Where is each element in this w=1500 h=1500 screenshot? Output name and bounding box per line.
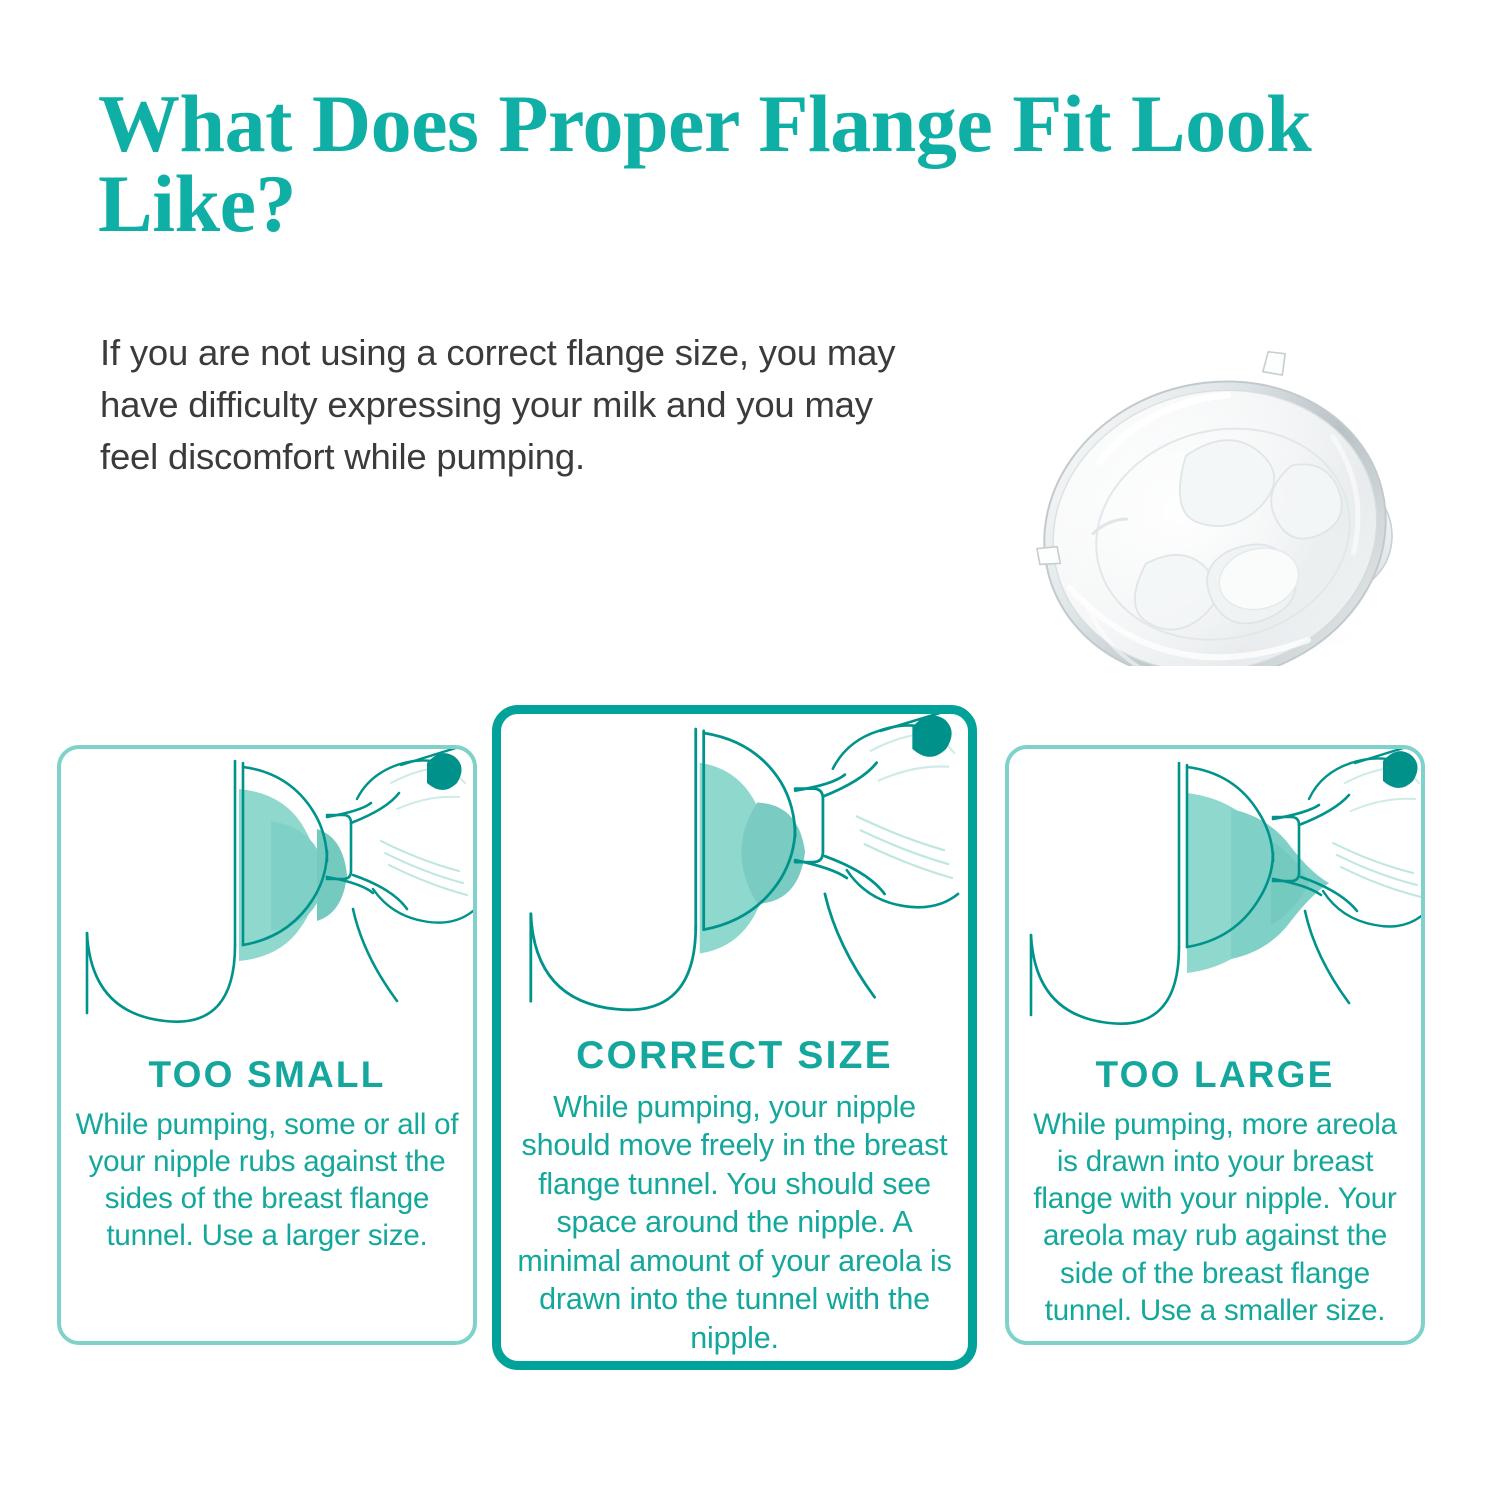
illustration-too-large — [1009, 749, 1421, 1049]
card-text-correct-size: While pumping, your nipple should move f… — [515, 1088, 954, 1357]
page-title: What Does Proper Flange Fit Look Like? — [98, 84, 1388, 243]
card-body-correct-size: CORRECT SIZE While pumping, your nipple … — [501, 1034, 968, 1357]
flange-fit-card-row: TOO SMALL While pumping, some or all of … — [0, 690, 1500, 1390]
product-photo — [1000, 236, 1450, 666]
card-text-too-small: While pumping, some or all of your nippl… — [75, 1106, 459, 1255]
card-text-too-large: While pumping, more areola is drawn into… — [1023, 1106, 1407, 1329]
card-heading-too-large: TOO LARGE — [1023, 1054, 1407, 1096]
card-body-too-large: TOO LARGE While pumping, more areola is … — [1009, 1054, 1421, 1329]
illustration-too-small — [61, 749, 473, 1049]
card-body-too-small: TOO SMALL While pumping, some or all of … — [61, 1054, 473, 1255]
intro-paragraph: If you are not using a correct flange si… — [100, 327, 910, 482]
card-correct-size[interactable]: CORRECT SIZE While pumping, your nipple … — [492, 705, 977, 1370]
breast-flange-product-image — [1000, 236, 1450, 666]
card-heading-correct-size: CORRECT SIZE — [515, 1034, 954, 1078]
card-too-small[interactable]: TOO SMALL While pumping, some or all of … — [57, 745, 477, 1345]
card-too-large[interactable]: TOO LARGE While pumping, more areola is … — [1005, 745, 1425, 1345]
illustration-correct-size — [501, 714, 968, 1044]
card-heading-too-small: TOO SMALL — [75, 1054, 459, 1096]
